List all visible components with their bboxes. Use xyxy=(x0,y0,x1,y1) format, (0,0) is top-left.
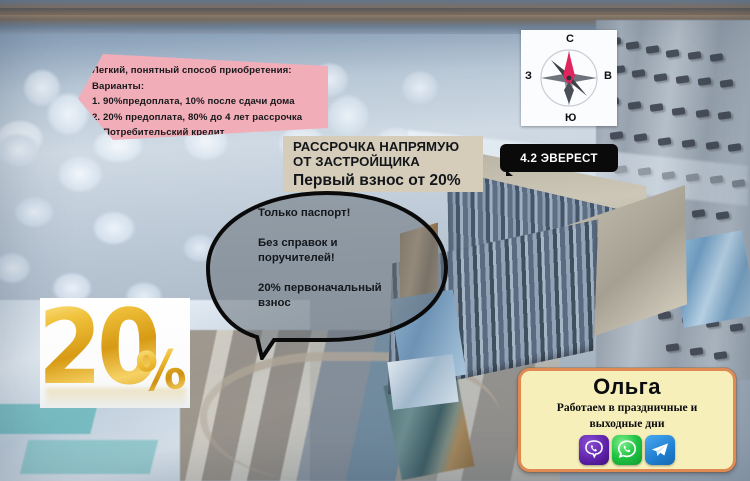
payment-options-panel: Легкий, понятный способ приобретения: Ва… xyxy=(78,54,328,140)
speech-bubble-text: Только паспорт! Без справок и поручителе… xyxy=(258,206,444,310)
compass-rose: С Ю З В xyxy=(521,30,617,126)
map-marker-label: 4.2 ЭВЕРЕСТ xyxy=(520,152,598,165)
messenger-icons xyxy=(521,435,733,465)
payment-options-subheading: Варианты: xyxy=(92,80,320,95)
bubble-line-1: Только паспорт! xyxy=(258,206,444,220)
viber-icon[interactable] xyxy=(579,435,609,465)
compass-label-north: С xyxy=(566,33,574,45)
discount-graphic: 20 % xyxy=(40,298,190,408)
contact-name: Ольга xyxy=(521,375,733,399)
bubble-line-3: поручителей! xyxy=(258,251,444,265)
headline-line-3: Первый взнос от 20% xyxy=(293,171,475,190)
headline-line-1: РАССРОЧКА НАПРЯМУЮ xyxy=(293,140,475,155)
compass-label-west: З xyxy=(525,70,532,82)
discount-reflection xyxy=(46,388,186,408)
speech-bubble: Только паспорт! Без справок и поручителе… xyxy=(202,190,452,360)
map-marker-pill[interactable]: 4.2 ЭВЕРЕСТ xyxy=(500,144,618,172)
installment-headline-panel: РАССРОЧКА НАПРЯМУЮ ОТ ЗАСТРОЙЩИКА Первый… xyxy=(283,136,483,192)
payment-option-2: 2. 20% предоплата, 80% до 4 лет рассрочк… xyxy=(92,111,320,126)
telegram-icon[interactable] xyxy=(645,435,675,465)
compass-label-south: Ю xyxy=(565,112,576,124)
contact-card: Ольга Работаем в праздничные и выходные … xyxy=(518,368,736,472)
contact-note-line-2: выходные дни xyxy=(521,416,733,431)
bubble-line-4: 20% первоначальный xyxy=(258,281,444,295)
compass-label-east: В xyxy=(604,70,612,82)
promo-image: Легкий, понятный способ приобретения: Ва… xyxy=(0,0,750,481)
whatsapp-icon[interactable] xyxy=(612,435,642,465)
contact-note-line-1: Работаем в праздничные и xyxy=(521,400,733,415)
bubble-line-2: Без справок и xyxy=(258,236,444,250)
headline-line-2: ОТ ЗАСТРОЙЩИКА xyxy=(293,155,475,170)
bubble-line-5: взнос xyxy=(258,296,444,310)
payment-option-1: 1. 90%предоплата, 10% после сдачи дома xyxy=(92,95,320,110)
payment-options-heading: Легкий, понятный способ приобретения: xyxy=(92,64,320,79)
